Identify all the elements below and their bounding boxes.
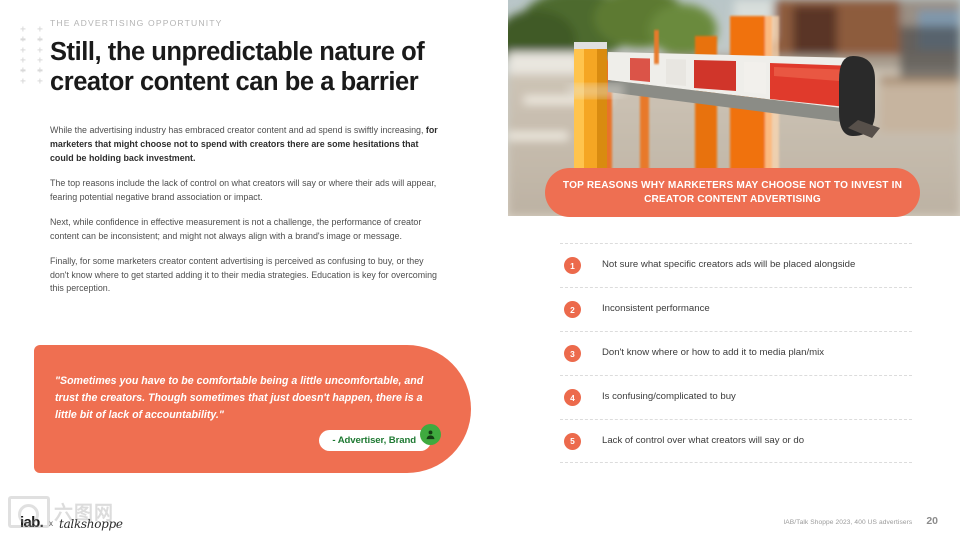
paragraph-4: Finally, for some marketers creator cont… <box>50 255 442 296</box>
reasons-list: 1 Not sure what specific creators ads wi… <box>560 243 912 463</box>
plus-icon <box>31 55 48 65</box>
quote-attribution-label: - Advertiser, Brand <box>332 435 416 446</box>
talkshoppe-logo-text: talkshoppe <box>59 518 123 530</box>
plus-icon <box>14 76 31 86</box>
section-banner: TOP REASONS WHY MARKETERS MAY CHOOSE NOT… <box>545 168 920 217</box>
quote-text: "Sometimes you have to be comfortable be… <box>55 373 433 424</box>
paragraph-1-lead: While the advertising industry has embra… <box>50 125 426 135</box>
plus-icon <box>14 55 31 65</box>
list-item-label: Inconsistent performance <box>602 303 710 315</box>
iab-logo-text: iab. <box>20 515 43 530</box>
paragraph-3: Next, while confidence in effective meas… <box>50 216 442 243</box>
section-banner-label: TOP REASONS WHY MARKETERS MAY CHOOSE NOT… <box>545 179 920 207</box>
plus-icon <box>14 45 31 55</box>
plus-icon <box>31 76 48 86</box>
page-title: Still, the unpredictable nature of creat… <box>50 37 450 97</box>
list-item[interactable]: 5 Lack of control over what creators wil… <box>560 419 912 463</box>
list-item-label: Is confusing/complicated to buy <box>602 391 736 403</box>
list-item[interactable]: 4 Is confusing/complicated to buy <box>560 375 912 419</box>
decorative-plus-pattern <box>14 24 48 86</box>
page-number: 20 <box>926 515 938 527</box>
plus-icon <box>31 24 48 34</box>
plus-icon <box>14 34 31 44</box>
rank-badge: 2 <box>564 301 581 318</box>
list-item-label: Not sure what specific creators ads will… <box>602 259 855 271</box>
plus-icon <box>31 45 48 55</box>
rank-badge: 1 <box>564 257 581 274</box>
list-item-label: Lack of control over what creators will … <box>602 435 804 447</box>
plus-icon <box>14 24 31 34</box>
quote-attribution-pill: - Advertiser, Brand <box>319 430 431 451</box>
slide-root: THE ADVERTISING OPPORTUNITY Still, the u… <box>0 0 960 540</box>
rank-badge: 3 <box>564 345 581 362</box>
rank-badge: 4 <box>564 389 581 406</box>
list-item[interactable]: 1 Not sure what specific creators ads wi… <box>560 243 912 287</box>
source-citation: IAB/Talk Shoppe 2023, 400 US advertisers <box>783 519 912 526</box>
person-icon <box>420 424 441 445</box>
rank-badge: 5 <box>564 433 581 450</box>
plus-icon <box>31 34 48 44</box>
body-copy: While the advertising industry has embra… <box>50 124 450 295</box>
paragraph-1: While the advertising industry has embra… <box>50 124 442 165</box>
paragraph-2: The top reasons include the lack of cont… <box>50 177 442 204</box>
plus-icon <box>14 65 31 75</box>
brand-logo: iab. x talkshoppe <box>20 515 123 530</box>
list-item[interactable]: 2 Inconsistent performance <box>560 287 912 331</box>
list-item-label: Don't know where or how to add it to med… <box>602 347 824 359</box>
plus-icon <box>31 65 48 75</box>
left-content-column: THE ADVERTISING OPPORTUNITY Still, the u… <box>50 18 450 296</box>
footer-meta: IAB/Talk Shoppe 2023, 400 US advertisers… <box>783 515 938 527</box>
logo-separator-x: x <box>49 520 53 530</box>
list-item[interactable]: 3 Don't know where or how to add it to m… <box>560 331 912 375</box>
quote-callout: "Sometimes you have to be comfortable be… <box>34 345 471 473</box>
eyebrow-label: THE ADVERTISING OPPORTUNITY <box>50 18 450 28</box>
